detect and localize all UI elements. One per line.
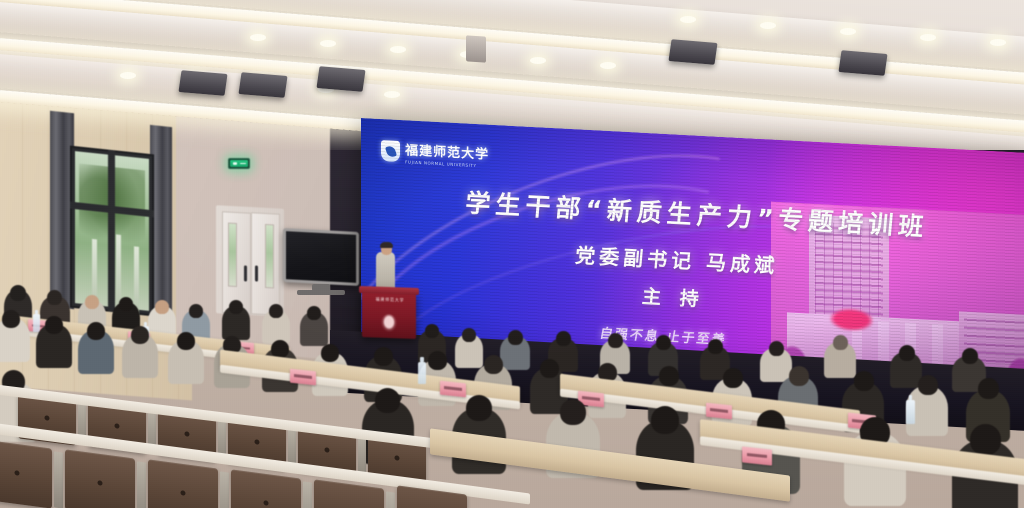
- attendee-head: [2, 310, 20, 328]
- attendee-head: [374, 347, 393, 366]
- attendee-head: [970, 424, 1001, 455]
- downlight-icon: [384, 91, 400, 98]
- attendee-head: [462, 328, 476, 342]
- attendee-head: [769, 341, 784, 356]
- door-handle-icon[interactable]: [255, 265, 258, 281]
- wall-mounted-display[interactable]: [283, 228, 359, 286]
- seat[interactable]: [148, 459, 218, 508]
- door-handle-icon[interactable]: [244, 265, 247, 281]
- door-panel-right[interactable]: [251, 212, 280, 316]
- downlight-icon: [250, 34, 266, 41]
- attendee-head: [45, 316, 63, 334]
- downlight-icon: [320, 40, 336, 47]
- podium: 福建师范大学: [362, 291, 416, 339]
- attendee-head: [608, 333, 623, 348]
- downlight-icon: [600, 62, 616, 69]
- attendee-head: [47, 290, 62, 305]
- ceiling-speaker: [668, 39, 717, 64]
- water-bottle: [906, 400, 915, 424]
- seat-divider: [303, 481, 312, 508]
- tv-screen: [286, 231, 356, 283]
- attendee-head: [962, 348, 978, 364]
- attendee-head: [425, 324, 439, 338]
- attendee-head: [269, 304, 283, 318]
- seat-divider: [220, 471, 229, 508]
- attendee-head: [484, 355, 503, 374]
- downlight-icon: [530, 57, 546, 64]
- downlight-icon: [990, 39, 1006, 46]
- name-card: [440, 381, 466, 398]
- attendee-head: [119, 297, 133, 311]
- speaker-hair: [380, 242, 393, 248]
- attendee-head: [789, 366, 809, 386]
- attendee-head: [556, 331, 571, 346]
- attendee-head: [87, 322, 105, 340]
- seat[interactable]: [65, 449, 135, 508]
- name-card: [742, 446, 772, 465]
- attendee-head: [177, 332, 195, 350]
- attendee-head: [307, 306, 321, 320]
- water-bottle: [418, 362, 426, 384]
- door-glass-lite: [265, 224, 274, 288]
- attendee-head: [155, 300, 169, 314]
- downlight-icon: [920, 34, 936, 41]
- downlight-icon: [760, 22, 776, 29]
- ceiling-speaker: [238, 72, 287, 97]
- attendee-head: [540, 359, 559, 378]
- attendee-head: [723, 368, 743, 388]
- university-crest-icon: [381, 314, 397, 333]
- seat[interactable]: [0, 439, 52, 508]
- downlight-icon: [840, 28, 856, 35]
- water-bottle: [33, 314, 40, 332]
- attendee-head: [659, 366, 679, 386]
- attendee-head: [375, 388, 400, 413]
- attendee-head: [321, 344, 339, 362]
- downlight-icon: [120, 72, 136, 79]
- attendee-head: [833, 335, 848, 350]
- door-glass-lite: [228, 223, 237, 287]
- running-man-exit-icon: [230, 160, 248, 166]
- name-card: [706, 403, 732, 420]
- seat-divider: [358, 434, 366, 477]
- podium-top: [359, 286, 419, 295]
- attendee-head: [508, 330, 523, 345]
- window-mullion-vertical: [108, 150, 115, 313]
- attendee-head: [229, 300, 243, 314]
- attendee-head: [918, 375, 938, 395]
- ceiling-speaker: [316, 66, 365, 91]
- attendee-head: [85, 295, 99, 309]
- downlight-icon: [680, 16, 696, 23]
- projector-mount: [466, 35, 486, 62]
- attendee-head: [10, 285, 26, 301]
- attendee-head: [651, 406, 679, 434]
- attendee-head: [131, 326, 149, 344]
- tv-stand-base: [297, 290, 345, 295]
- attendee-head: [189, 304, 203, 318]
- ceiling-speaker: [838, 50, 887, 75]
- seat-divider: [54, 451, 63, 508]
- attendee-head: [466, 395, 492, 421]
- window: [70, 146, 154, 317]
- downlight-icon: [390, 46, 406, 53]
- seat-divider: [137, 461, 146, 508]
- lecture-hall-scene: 福建师范大学 FUJIAN NORMAL UNIVERSITY 学生干部“新质生…: [0, 0, 1024, 508]
- attendee-head: [899, 345, 915, 361]
- attendee-head: [656, 335, 671, 350]
- exit-sign: [228, 158, 250, 169]
- attendee-head: [560, 399, 586, 425]
- attendee-head: [854, 371, 874, 391]
- attendee-head: [708, 339, 723, 354]
- podium-label: 福建师范大学: [368, 296, 412, 304]
- attendee-head: [428, 351, 447, 370]
- seat-divider: [386, 491, 395, 508]
- ceiling-speaker: [178, 70, 227, 95]
- name-card: [290, 369, 316, 386]
- attendee-head: [978, 378, 999, 399]
